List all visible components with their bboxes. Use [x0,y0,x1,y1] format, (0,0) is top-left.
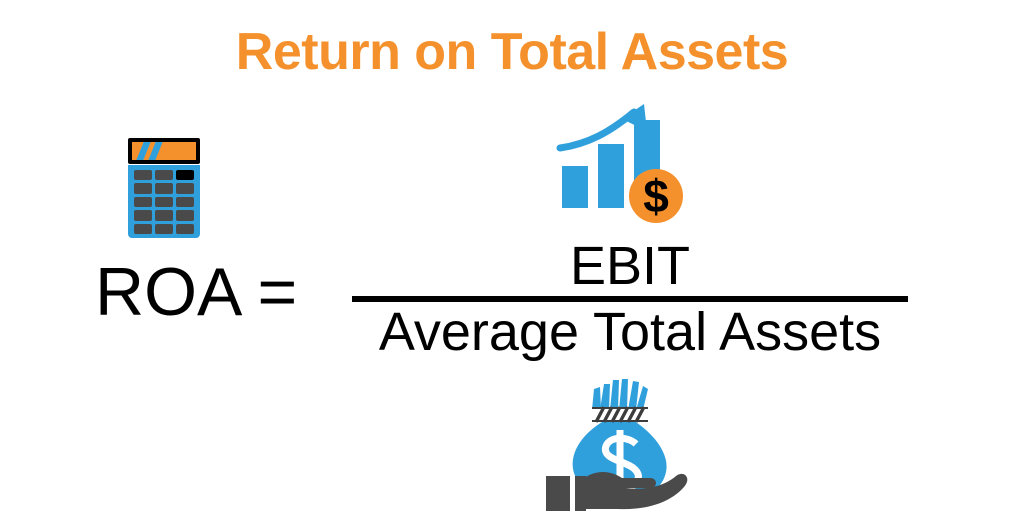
money-bag-in-hand-icon [530,378,700,518]
growth-arrow-icon [560,104,647,148]
calculator-key [134,197,152,207]
calculator-key [155,170,173,180]
chart-bar [598,144,624,208]
calculator-key [176,197,194,207]
formula-denominator: Average Total Assets [352,303,908,361]
calculator-keypad [134,170,194,234]
calculator-key [155,224,173,234]
calculator-key [155,183,173,193]
hand-cuff [570,476,575,511]
chart-bar [562,166,588,208]
formula-fraction: EBIT Average Total Assets [352,238,908,361]
hand-sleeve [546,476,586,511]
image-canvas: Return on Total Assets [0,0,1024,526]
calculator-screen [132,142,196,160]
calculator-key-accent [176,170,194,180]
page-title: Return on Total Assets [0,22,1024,82]
formula-numerator: EBIT [352,238,908,294]
calculator-key [176,183,194,193]
formula-left-side: ROA = [95,258,297,326]
money-bag-tie-band [592,407,648,422]
calculator-key [176,210,194,220]
calculator-screen-frame [128,138,200,164]
calculator-key [155,210,173,220]
money-bag-tufts [592,379,648,410]
calculator-key [176,224,194,234]
calculator-key [134,183,152,193]
calculator-icon [128,138,200,238]
calculator-key [134,170,152,180]
calculator-key [155,197,173,207]
bar-chart-growth-icon: $ [548,100,688,230]
calculator-key [134,210,152,220]
calculator-body [128,165,200,238]
calculator-key [134,224,152,234]
dollar-sign-glyph: $ [643,170,669,222]
